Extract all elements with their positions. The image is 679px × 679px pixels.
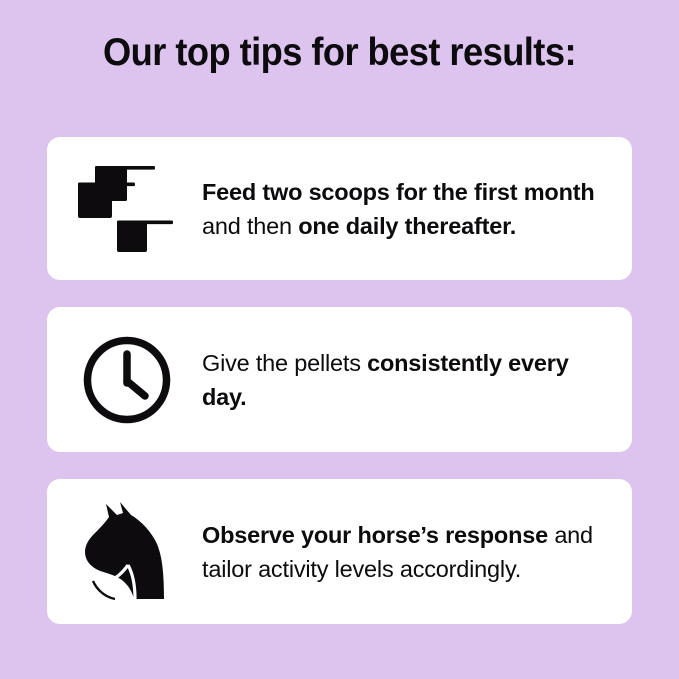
clock-icon-wrap (47, 307, 202, 452)
tip-segment-bold-1: Feed two scoops for the first month (202, 179, 595, 205)
tips-list: Feed two scoops for the first month and … (47, 137, 632, 624)
tip-card-observe: Observe your horse’s response and tailor… (47, 479, 632, 624)
horse-head-icon-wrap (47, 479, 202, 624)
tip-card-consistency: Give the pellets consistently every day. (47, 307, 632, 452)
tip-segment-bold-1: Observe your horse’s response (202, 522, 554, 548)
tips-infographic: Our top tips for best results: (0, 0, 679, 679)
horse-head-icon (79, 502, 175, 602)
clock-icon (81, 334, 173, 426)
tip-segment-regular-1: Give the pellets (202, 350, 367, 376)
scoops-icon (77, 161, 177, 257)
tip-text-consistency: Give the pellets consistently every day. (202, 346, 632, 414)
tip-card-feeding: Feed two scoops for the first month and … (47, 137, 632, 280)
tip-segment-regular-1: and then (202, 213, 298, 239)
page-title: Our top tips for best results: (24, 30, 655, 76)
tip-text-feeding: Feed two scoops for the first month and … (202, 175, 632, 243)
tip-segment-bold-2: one daily thereafter. (298, 213, 516, 239)
tip-text-observe: Observe your horse’s response and tailor… (202, 518, 632, 586)
scoops-icon-wrap (47, 137, 202, 280)
